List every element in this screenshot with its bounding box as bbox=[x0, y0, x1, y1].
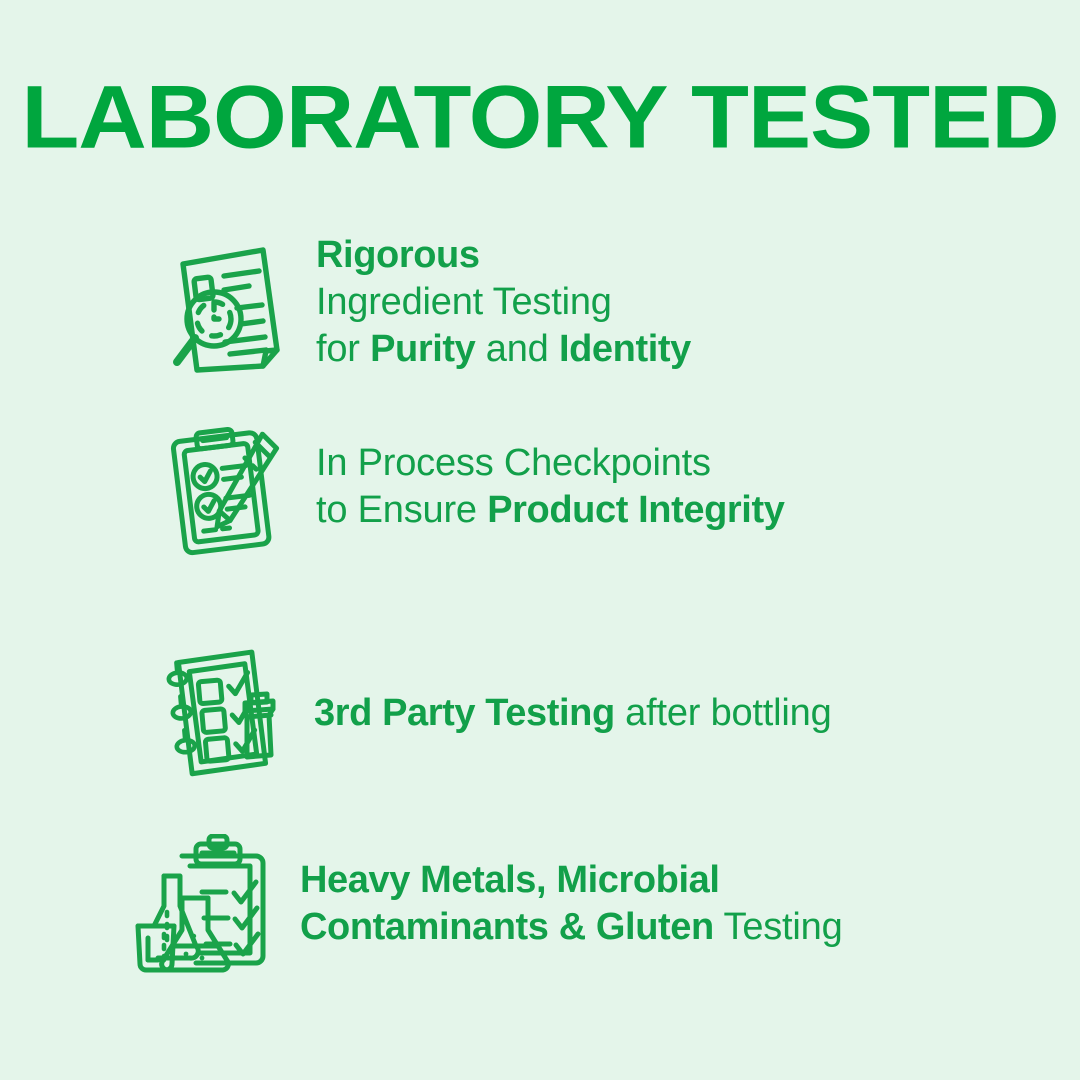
list-item: Heavy Metals, MicrobialContaminants & Gl… bbox=[0, 818, 1080, 990]
feature-line: Contaminants & Gluten Testing bbox=[300, 904, 1080, 951]
feature-text: In Process Checkpointsto Ensure Product … bbox=[302, 416, 1080, 534]
feature-icon-cell bbox=[152, 416, 302, 556]
clipboard-pencil-checkmarks-icon bbox=[165, 426, 289, 556]
feature-line: Rigorous bbox=[316, 232, 1080, 279]
page-title: LABORATORY TESTED bbox=[0, 72, 1080, 161]
feature-text: RigorousIngredient Testingfor Purity and… bbox=[302, 232, 1080, 373]
feature-list: RigorousIngredient Testingfor Purity and… bbox=[0, 232, 1080, 990]
feature-icon-cell bbox=[152, 232, 302, 378]
feature-line: In Process Checkpoints bbox=[316, 440, 1080, 487]
list-item: In Process Checkpointsto Ensure Product … bbox=[0, 416, 1080, 592]
feature-line: Ingredient Testing bbox=[316, 279, 1080, 326]
feature-text: Heavy Metals, MicrobialContaminants & Gl… bbox=[292, 857, 1080, 951]
feature-icon-cell bbox=[126, 834, 292, 974]
feature-line: 3rd Party Testing after bottling bbox=[314, 690, 1080, 737]
feature-line: Heavy Metals, Microbial bbox=[300, 857, 1080, 904]
laboratory-tested-infographic: LABORATORY TESTED bbox=[0, 0, 1080, 1080]
document-magnifier-icon bbox=[167, 238, 287, 378]
feature-text: 3rd Party Testing after bottling bbox=[300, 690, 1080, 737]
feature-line: to Ensure Product Integrity bbox=[316, 487, 1080, 534]
list-item: 3rd Party Testing after bottling bbox=[0, 630, 1080, 796]
list-item: RigorousIngredient Testingfor Purity and… bbox=[0, 232, 1080, 404]
feature-icon-cell bbox=[150, 647, 300, 779]
clipboard-lab-glassware-icon bbox=[134, 834, 284, 974]
checklist-bottle-icon bbox=[161, 647, 289, 779]
feature-line: for Purity and Identity bbox=[316, 326, 1080, 373]
